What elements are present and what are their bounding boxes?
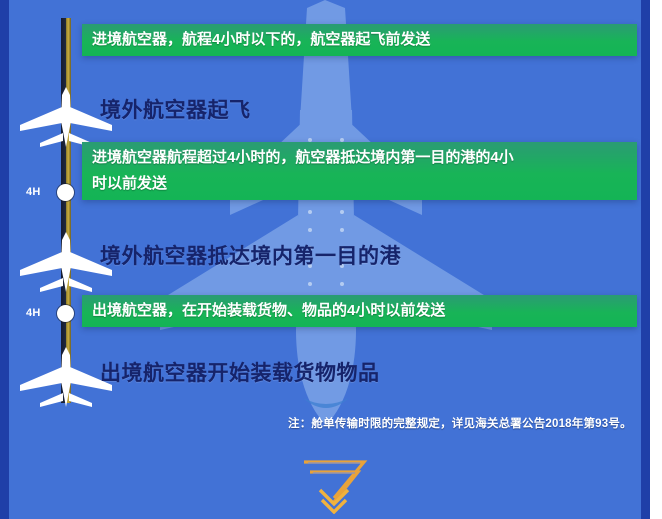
chevron-down-icon: [298, 452, 370, 514]
heading-outbound-loading-start: 出境航空器开始装载货物物品: [100, 357, 380, 387]
heading-overseas-departure: 境外航空器起飞: [100, 94, 251, 124]
right-edge-strip: [641, 0, 650, 519]
heading-arrival-first-port: 境外航空器抵达境内第一目的港: [100, 240, 401, 270]
hour-marker-dot-2: [57, 305, 74, 322]
right-white-margin: [650, 0, 662, 519]
banner-text-1: 进境航空器，航程4小时以下的，航空器起飞前发送: [82, 27, 440, 53]
banner-outbound-loading: 出境航空器，在开始装载货物、物品的4小时以前发送: [82, 295, 637, 327]
banner-inbound-over-4h: 进境航空器航程超过4小时的，航空器抵达境内第一目的港的4小 时以前发送: [82, 142, 637, 200]
hour-marker-label-2: 4H: [26, 307, 41, 319]
banner-text-3: 出境航空器，在开始装载货物、物品的4小时以前发送: [82, 298, 455, 324]
left-edge-strip: [0, 0, 9, 519]
infographic-poster: 4H 4H 进境航空器，航程4小时以下的，航空器起飞前发送 境外航空器起飞 进境…: [0, 0, 662, 519]
hour-marker-dot-1: [57, 184, 74, 201]
banner-inbound-under-4h: 进境航空器，航程4小时以下的，航空器起飞前发送: [82, 24, 637, 56]
footnote-text: 注：舱单传输时限的完整规定，详见海关总署公告2018年第93号。: [288, 415, 632, 431]
banner-text-2: 进境航空器航程超过4小时的，航空器抵达境内第一目的港的4小 时以前发送: [82, 145, 524, 197]
hour-marker-label-1: 4H: [26, 186, 41, 198]
